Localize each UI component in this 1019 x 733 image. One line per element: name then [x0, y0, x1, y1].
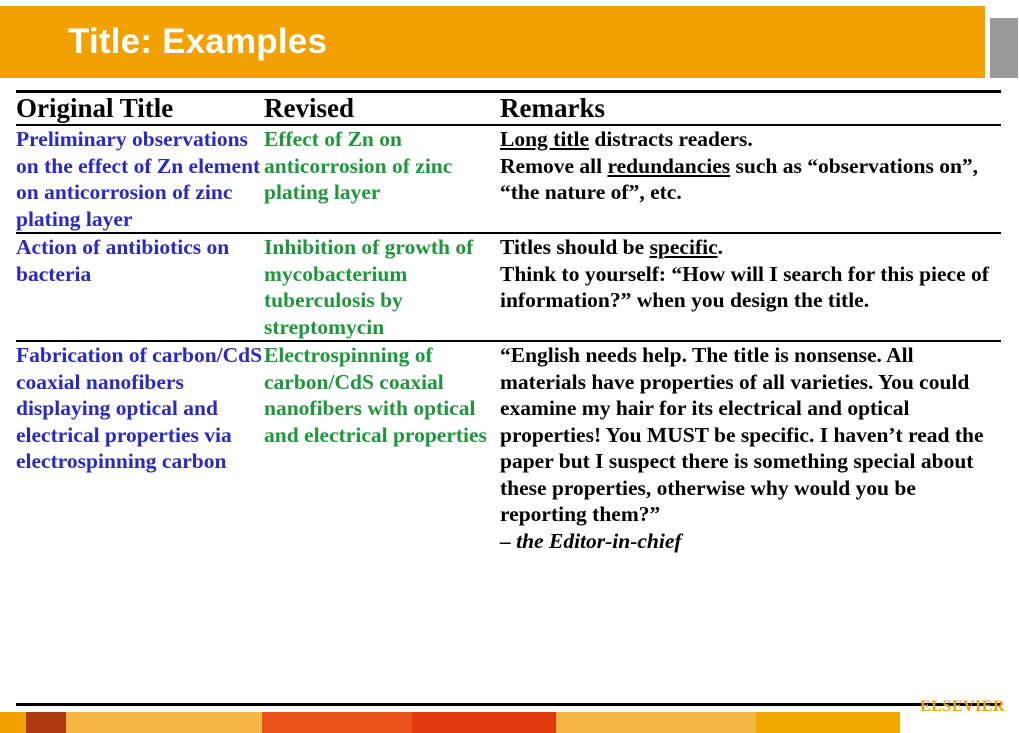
- footer-segment-7: [900, 712, 1019, 733]
- title-bar-shadow: [990, 18, 1018, 78]
- cell-remarks: Long title distracts readers.Remove all …: [500, 126, 1001, 232]
- cell-original-title: Preliminary observations on the effect o…: [16, 126, 264, 232]
- cell-revised-title: Inhibition of growth of mycobacterium tu…: [264, 234, 500, 340]
- footer-segment-0: [0, 712, 26, 733]
- page-title: Title: Examples: [68, 22, 327, 62]
- table-row: Fabrication of carbon/CdS coaxial nanofi…: [16, 342, 1001, 554]
- footer-segment-6: [756, 712, 900, 733]
- column-header-original-title: Original Title: [16, 93, 264, 124]
- table-header-row: Original Title Revised Remarks: [16, 93, 1001, 124]
- column-header-remarks: Remarks: [500, 93, 1001, 124]
- column-header-revised: Revised: [264, 93, 500, 124]
- title-bar: Title: Examples: [0, 6, 985, 78]
- cell-original-title: Fabrication of carbon/CdS coaxial nanofi…: [16, 342, 264, 554]
- cell-remarks: “English needs help. The title is nonsen…: [500, 342, 1001, 554]
- footer-rule: [16, 703, 1001, 706]
- cell-remarks: Titles should be specific.Think to yours…: [500, 234, 1001, 340]
- examples-table: Original Title Revised Remarks Prelimina…: [16, 90, 1001, 554]
- footer-segment-2: [66, 712, 262, 733]
- table: Original Title Revised Remarks Prelimina…: [16, 93, 1001, 554]
- cell-revised-title: Effect of Zn on anticorrosion of zinc pl…: [264, 126, 500, 232]
- footer-segment-3: [262, 712, 412, 733]
- footer-segment-1: [26, 712, 66, 733]
- table-row: Action of antibiotics on bacteria Inhibi…: [16, 234, 1001, 340]
- cell-revised-title: Electrospinning of carbon/CdS coaxial na…: [264, 342, 500, 554]
- footer-segment-4: [412, 712, 556, 733]
- footer-segment-5: [556, 712, 756, 733]
- slide: Title: Examples Original Title Revised R…: [0, 0, 1019, 733]
- footer-color-bar: [0, 712, 1019, 733]
- table-row: Preliminary observations on the effect o…: [16, 126, 1001, 232]
- cell-original-title: Action of antibiotics on bacteria: [16, 234, 264, 340]
